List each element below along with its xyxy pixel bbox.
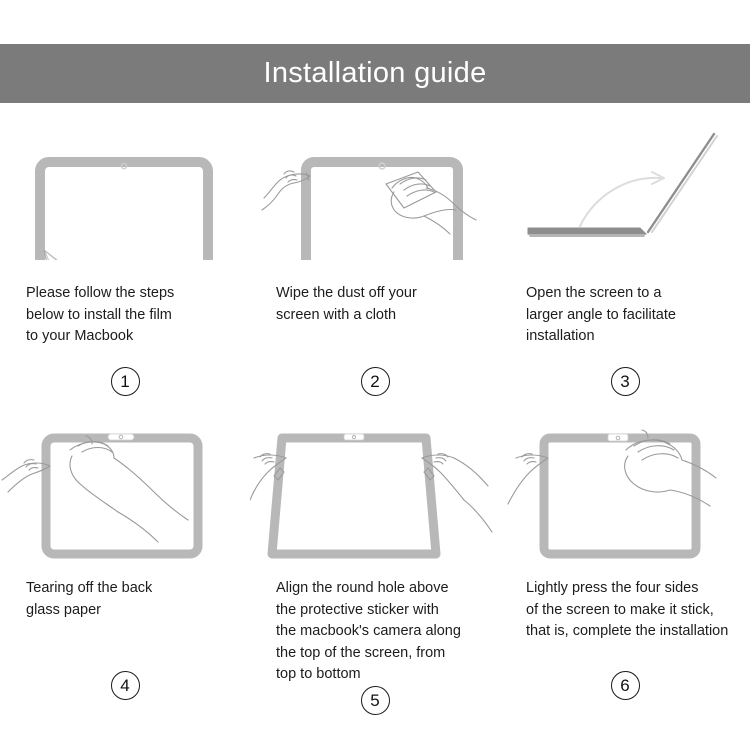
step-number-badge: 6 <box>611 671 640 700</box>
step-number-badge: 3 <box>611 367 640 396</box>
step-5-illustration <box>250 410 500 560</box>
step-card-1: Please follow the steps below to install… <box>0 110 250 410</box>
caption-line: top to bottom <box>276 664 492 686</box>
step-6-caption: Lightly press the four sides of the scre… <box>500 578 750 643</box>
caption-line: Lightly press the four sides <box>526 578 742 600</box>
step-2-illustration <box>250 110 500 260</box>
step-3-caption: Open the screen to a larger angle to fac… <box>500 283 750 348</box>
caption-line: Align the round hole above <box>276 578 492 600</box>
caption-line: Wipe the dust off your <box>276 283 492 305</box>
caption-line: the top of the screen, from <box>276 643 492 665</box>
step-number-badge: 4 <box>111 671 140 700</box>
step-2-badge-wrap: 2 <box>250 367 500 410</box>
step-1-badge-wrap: 1 <box>0 367 250 410</box>
caption-line: the protective sticker with <box>276 600 492 622</box>
caption-line: larger angle to facilitate <box>526 305 742 327</box>
step-card-3: Open the screen to a larger angle to fac… <box>500 110 750 410</box>
caption-line: installation <box>526 326 742 348</box>
step-1-caption: Please follow the steps below to install… <box>0 283 250 348</box>
step-3-illustration <box>500 110 750 260</box>
caption-line: of the screen to make it stick, <box>526 600 742 622</box>
installation-guide-banner: Installation guide <box>0 44 750 103</box>
step-number-badge: 1 <box>111 367 140 396</box>
step-5-caption: Align the round hole above the protectiv… <box>250 578 500 686</box>
page-title: Installation guide <box>263 59 486 88</box>
steps-grid: Please follow the steps below to install… <box>0 110 750 740</box>
step-3-badge-wrap: 3 <box>500 367 750 410</box>
step-card-5: Align the round hole above the protectiv… <box>250 410 500 740</box>
caption-line: that is, complete the installation <box>526 621 742 643</box>
caption-line: Please follow the steps <box>26 283 242 305</box>
step-4-caption: Tearing off the back glass paper <box>0 578 250 621</box>
step-6-illustration <box>500 410 750 560</box>
step-card-2: Wipe the dust off your screen with a clo… <box>250 110 500 410</box>
caption-line: Open the screen to a <box>526 283 742 305</box>
step-card-6: Lightly press the four sides of the scre… <box>500 410 750 740</box>
caption-line: the macbook's camera along <box>276 621 492 643</box>
step-2-caption: Wipe the dust off your screen with a clo… <box>250 283 500 326</box>
caption-line: screen with a cloth <box>276 305 492 327</box>
caption-line: below to install the film <box>26 305 242 327</box>
step-4-illustration <box>0 410 250 560</box>
step-5-badge-wrap: 5 <box>250 686 500 755</box>
step-number-badge: 2 <box>361 367 390 396</box>
step-6-badge-wrap: 6 <box>500 671 750 740</box>
step-card-4: Tearing off the back glass paper 4 <box>0 410 250 740</box>
step-number-badge: 5 <box>361 686 390 715</box>
step-4-badge-wrap: 4 <box>0 671 250 740</box>
caption-line: glass paper <box>26 600 242 622</box>
caption-line: Tearing off the back <box>26 578 242 600</box>
caption-line: to your Macbook <box>26 326 242 348</box>
step-1-illustration <box>0 110 250 260</box>
